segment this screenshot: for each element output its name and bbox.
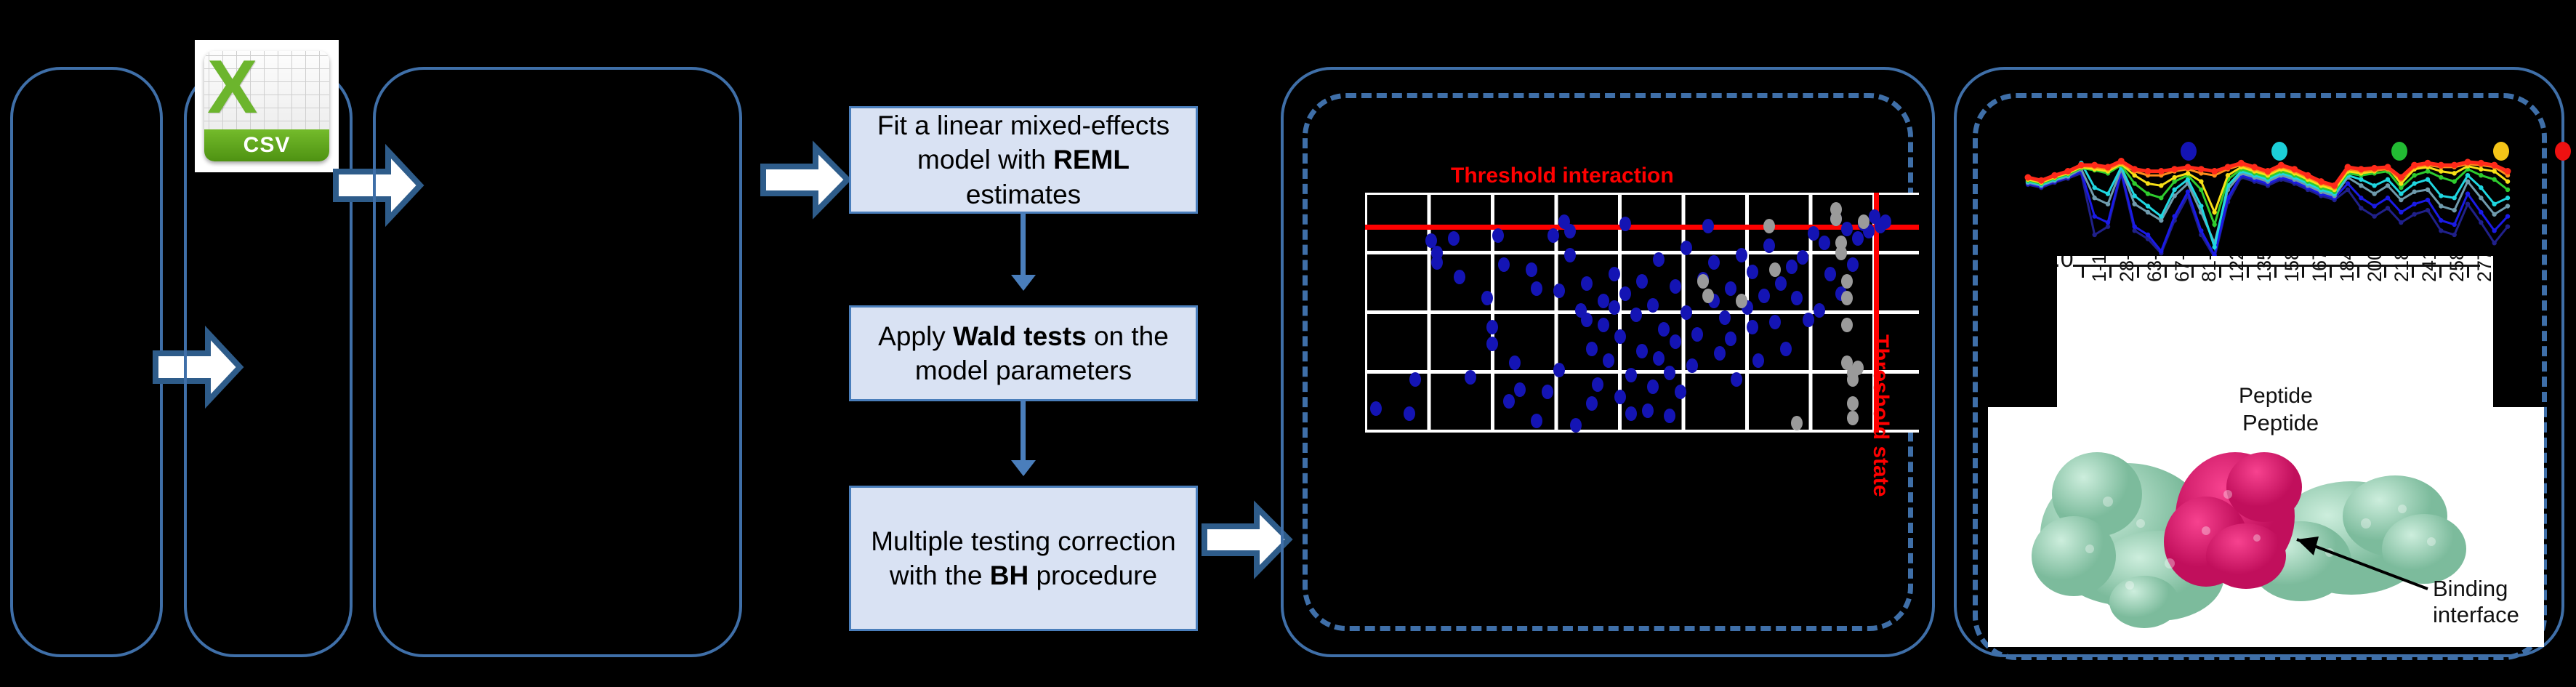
peptide-series-point (2439, 228, 2443, 233)
peptide-series-point (2372, 204, 2376, 208)
peptide-series-point (2399, 185, 2403, 190)
scatter-point (1681, 305, 1692, 320)
peptide-series-point (2106, 191, 2110, 196)
scatter-point (1542, 385, 1553, 399)
peptide-series-point (2452, 222, 2456, 227)
peptide-series-point (2399, 220, 2403, 225)
peptide-series-point (2106, 201, 2110, 206)
scatter-point (1847, 257, 1859, 272)
scatter-point (1664, 366, 1675, 380)
peptide-series-point (2412, 212, 2416, 217)
peptide-series-point (2399, 210, 2403, 214)
scatter-point (1531, 414, 1542, 428)
peptide-tick-label: 158-166 (2281, 256, 2303, 282)
scatter-point (1586, 342, 1598, 356)
step-box-1: Fit a linear mixed-effects model with RE… (849, 106, 1198, 214)
peptide-series-point (2359, 196, 2363, 200)
peptide-series-point (2505, 225, 2510, 229)
scatter-point (1581, 276, 1593, 291)
peptide-series-point (2092, 233, 2096, 237)
peptide-tick-label: 200-214 (2364, 256, 2386, 282)
scatter-point (1547, 228, 1559, 243)
scatter-point (1752, 353, 1764, 368)
step-1-text: Fit a linear mixed-effects model with RE… (858, 108, 1188, 212)
peptide-series-point (2426, 198, 2430, 202)
peptide-tick-label: 63-73 (2144, 256, 2166, 282)
scatter-point (1814, 303, 1825, 318)
peptide-series-point (2159, 218, 2163, 222)
scatter-point (1647, 379, 1659, 394)
scatter-point (1609, 300, 1620, 315)
scatter-point (1409, 372, 1421, 387)
peptide-series-point (2452, 233, 2456, 237)
scatter-point (1625, 406, 1637, 421)
peptide-series-point (2199, 228, 2203, 233)
scatter-point (1564, 248, 1576, 262)
peptide-series-point (2412, 201, 2416, 206)
scatter-point (1581, 313, 1593, 327)
csv-card: X CSV (204, 51, 329, 161)
peptide-series-point (2492, 228, 2496, 233)
peptide-series-point (2479, 210, 2483, 214)
peptide-tick-label: 28-44 (2116, 256, 2138, 282)
peptide-series-point (2386, 196, 2390, 200)
peptide-legend (2013, 142, 2522, 185)
peptide-axis-title: Peptide (2239, 384, 2313, 409)
scatter-point (1570, 418, 1582, 433)
peptide-series-point (2159, 196, 2163, 200)
scatter-point (1614, 390, 1626, 404)
scatter-point (1841, 274, 1853, 289)
peptide-series-point (2132, 228, 2136, 233)
scatter-point (1763, 219, 1775, 233)
scatter-point (1486, 337, 1498, 351)
peptide-legend-dot (2271, 142, 2287, 161)
peptide-series-point (2439, 204, 2443, 208)
peptide-series-point (2492, 201, 2496, 206)
peptide-tick-label: 67-75 (2171, 256, 2194, 282)
panel-statistical-model (373, 67, 742, 657)
scatter-point (1702, 219, 1714, 233)
scatter-point (1647, 298, 1659, 313)
scatter-point (1841, 222, 1853, 236)
scatter-point (1708, 255, 1720, 270)
scatter-point (1758, 289, 1770, 303)
scatter-point (1841, 291, 1853, 305)
scatter-point (1847, 396, 1859, 411)
scatter-point (1775, 276, 1787, 291)
peptide-series-point (2146, 191, 2150, 196)
step-connector-2-3-tip (1011, 460, 1036, 476)
scatter-point (1670, 334, 1681, 349)
scatter-point (1636, 344, 1648, 358)
scatter-point (1714, 346, 1726, 361)
peptide-series-point (2159, 214, 2163, 218)
scatter-point (1686, 358, 1698, 373)
step-box-3: Multiple testing correctionwith the BH p… (849, 486, 1198, 631)
peptide-tick-label: 81-101 (2198, 256, 2221, 282)
scatter-point (1625, 368, 1637, 382)
peptide-series-point (2386, 206, 2390, 210)
csv-band: CSV (204, 129, 329, 161)
peptide-series-point (2199, 188, 2203, 192)
peptide-tick-label: 277-284 (2474, 256, 2493, 282)
peptide-series-point (2466, 191, 2470, 196)
scatter-point (1509, 355, 1521, 370)
peptide-series-point (2106, 220, 2110, 225)
peptide-series-point (2106, 225, 2110, 229)
peptide-series-point (2505, 214, 2510, 218)
scatter-point (1492, 228, 1504, 243)
peptide-series-point (2132, 201, 2136, 206)
scatter-point (1819, 236, 1830, 250)
scatter-point (1586, 396, 1598, 411)
step-box-2: Apply Wald tests on the model parameters (849, 305, 1198, 401)
scatter-point (1736, 248, 1747, 262)
peptide-tick-label: 218-237 (2391, 256, 2413, 282)
scatter-point (1553, 363, 1565, 377)
peptide-series-point (2146, 204, 2150, 208)
peptide-series-point (2492, 241, 2496, 245)
peptide-series-point (2132, 193, 2136, 198)
peptide-tick-label: 167-180 (2309, 256, 2331, 282)
scatter-point (1797, 250, 1808, 265)
scatter-point (1858, 214, 1869, 229)
step-connector-1-2 (1021, 214, 1026, 278)
scatter-point (1553, 284, 1565, 298)
scatter-point (1670, 279, 1681, 294)
peptide-series-point (2159, 249, 2163, 253)
scatter-point (1736, 294, 1747, 308)
scatter-point (1598, 318, 1609, 332)
peptide-series-point (2452, 196, 2456, 200)
scatter-point (1675, 385, 1686, 399)
peptide-series-point (2212, 210, 2216, 214)
peptide-series-point (2505, 204, 2510, 208)
binding-interface-label-line2: interface (2433, 602, 2519, 629)
peptide-legend-dot (2555, 142, 2571, 161)
threshold-state-label: Threshold state (1868, 334, 1893, 497)
scatter-point (1370, 401, 1382, 416)
peptide-series-point (2092, 196, 2096, 200)
peptide-series-point (2146, 233, 2150, 237)
csv-file-icon: X CSV (195, 40, 339, 172)
peptide-tick-label: 184-199 (2336, 256, 2359, 282)
scatter-point (1592, 377, 1603, 392)
peptide-series-point (2212, 245, 2216, 249)
peptide-series-point (2346, 188, 2350, 192)
scatter-point (1835, 246, 1847, 260)
peptide-tick-label: 1-15 (2088, 256, 2111, 282)
scatter-point (1653, 351, 1665, 366)
scatter-point (1719, 310, 1731, 325)
peptide-series-point (2439, 193, 2443, 198)
scatter-point (1852, 231, 1864, 246)
scatter-point (1498, 257, 1510, 272)
step-connector-1-2-tip (1011, 275, 1036, 291)
scatter-point (1564, 224, 1576, 238)
scatter-point (1791, 416, 1803, 430)
peptide-series-point (2186, 190, 2190, 194)
scatter-point (1763, 238, 1775, 253)
scatter-point (1630, 308, 1642, 322)
peptide-legend-dot (2391, 142, 2407, 161)
peptide-series-point (2412, 190, 2416, 194)
scatter-point (1653, 252, 1665, 267)
panel-data-source (10, 67, 163, 657)
peptide-series-point (2439, 218, 2443, 222)
scatter-point (1852, 361, 1864, 375)
peptide-series-point (2212, 222, 2216, 227)
csv-x-letter: X (207, 51, 257, 125)
scatter-point (1786, 260, 1798, 274)
peptide-series-point (2426, 188, 2430, 192)
peptide-series-point (2399, 198, 2403, 202)
scatter-point (1747, 320, 1758, 334)
scatter-point (1725, 281, 1736, 296)
scatter-point (1404, 406, 1415, 421)
peptide-series-point (2505, 196, 2510, 200)
scatter-point (1803, 313, 1814, 327)
step-2-text: Apply Wald tests on the model parameters (858, 319, 1188, 388)
scatter-point (1780, 342, 1792, 356)
peptide-series-point (2372, 214, 2376, 218)
peptide-callout-label: Peptide (2242, 410, 2319, 437)
scatter-point (1503, 394, 1515, 409)
scatter-plot (1365, 193, 1919, 433)
scatter-point (1880, 214, 1891, 229)
peptide-series-point (2479, 196, 2483, 200)
peptide-series-point (2426, 208, 2430, 212)
peptide-legend-dot (2181, 142, 2197, 161)
peptide-series-point (2199, 204, 2203, 208)
peptide-series-point (2092, 185, 2096, 190)
peptide-series-point (2479, 220, 2483, 225)
scatter-point (1642, 403, 1654, 418)
peptide-tick-label: 258-266 (2446, 256, 2468, 282)
scatter-point (1448, 231, 1460, 246)
peptide-series-point (2466, 201, 2470, 206)
peptide-tick-label: 135-144 (2253, 256, 2276, 282)
step-connector-2-3 (1021, 401, 1026, 463)
scatter-point (1731, 372, 1742, 387)
scatter-point (1526, 262, 1537, 277)
scatter-point (1791, 291, 1803, 305)
peptide-series-point (2132, 225, 2136, 229)
binding-interface-label-line1: Binding (2433, 576, 2508, 603)
scatter-point (1514, 382, 1526, 397)
scatter-point (1691, 327, 1703, 342)
peptide-series-point (2452, 208, 2456, 212)
scatter-point (1697, 274, 1709, 289)
scatter-point (1531, 281, 1542, 296)
peptide-series-point (2172, 188, 2176, 192)
scatter-point (1454, 270, 1465, 284)
scatter-point (1841, 318, 1853, 332)
protein-structure-image: Peptide Binding interface (1988, 407, 2544, 647)
scatter-point (1824, 267, 1836, 281)
peptide-axis-block: 0.0 1-1528-4463-7367-7581-101122-129135-… (2057, 256, 2493, 416)
scatter-point (1481, 291, 1493, 305)
peptide-series-point (2399, 191, 2403, 196)
scatter-point (1725, 332, 1736, 346)
threshold-interaction-label: Threshold interaction (1451, 164, 1674, 188)
scatter-points-layer (1365, 193, 1919, 433)
flow-arrow-3 (760, 142, 851, 218)
scatter-point (1808, 226, 1819, 241)
scatter-point (1769, 262, 1781, 277)
scatter-point (1431, 255, 1443, 270)
scatter-point (1847, 411, 1859, 425)
peptide-series-point (2092, 214, 2096, 218)
scatter-point (1769, 315, 1781, 329)
scatter-point (1636, 274, 1648, 289)
scatter-point (1658, 322, 1670, 337)
scatter-point (1598, 294, 1609, 308)
step-3-text: Multiple testing correctionwith the BH p… (871, 524, 1176, 593)
peptide-series-point (2492, 212, 2496, 217)
peptide-series-point (2146, 210, 2150, 214)
peptide-tick-label: 122-129 (2226, 256, 2248, 282)
scatter-point (1747, 265, 1758, 279)
scatter-point (1619, 286, 1631, 301)
scatter-point (1465, 370, 1476, 385)
scatter-point (1619, 217, 1631, 231)
peptide-series-point (2372, 191, 2376, 196)
peptide-series-point (2479, 185, 2483, 190)
scatter-point (1609, 267, 1620, 281)
peptide-series-point (2505, 188, 2510, 192)
peptide-legend-dot (2493, 142, 2509, 161)
csv-label: CSV (243, 133, 291, 158)
peptide-series-point (2359, 206, 2363, 210)
peptide-series-point (2172, 214, 2176, 218)
peptide-tick-label: 241-257 (2418, 256, 2441, 282)
scatter-point (1614, 329, 1626, 344)
scatter-point (1681, 241, 1692, 255)
scatter-point (1486, 320, 1498, 334)
scatter-point (1664, 409, 1675, 423)
scatter-point (1603, 353, 1614, 368)
scatter-point (1830, 212, 1842, 226)
flow-arrow-4 (1202, 502, 1292, 578)
